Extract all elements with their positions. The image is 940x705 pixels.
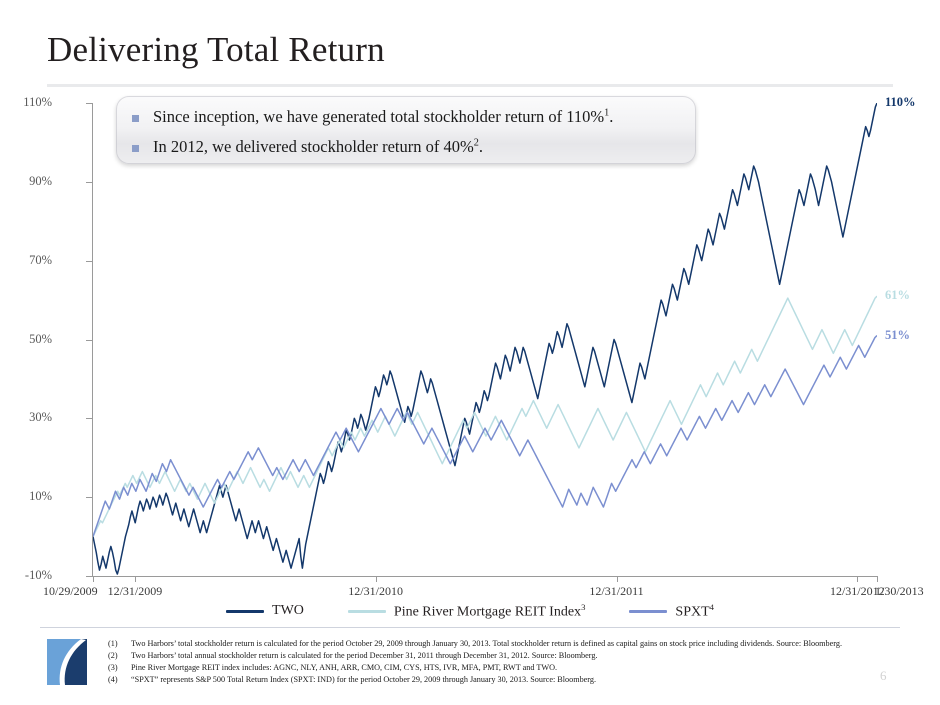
y-axis-tick-label: 30% xyxy=(29,410,52,425)
y-axis-tick-mark xyxy=(86,340,92,341)
end-label-two: 110% xyxy=(885,95,916,110)
footnote-number: (3) xyxy=(108,662,122,674)
legend-item-spxt[interactable]: SPXT4 xyxy=(629,602,714,621)
end-label-spxt: 51% xyxy=(885,328,910,343)
legend-label: Pine River Mortgage REIT Index3 xyxy=(394,602,586,621)
legend-item-pine-river-mortgage-reit-index[interactable]: Pine River Mortgage REIT Index3 xyxy=(348,602,586,621)
x-axis-tick-label: 12/31/2009 xyxy=(108,584,163,599)
footnote-row: (3)Pine River Mortgage REIT index includ… xyxy=(108,662,883,674)
company-logo xyxy=(45,637,91,689)
square-bullet-icon xyxy=(132,115,139,122)
title-divider xyxy=(47,84,893,87)
footnote-marker: 4 xyxy=(710,602,714,612)
footnote-number: (2) xyxy=(108,650,122,662)
x-axis-tick-label: 12/31/2010 xyxy=(348,584,403,599)
bullet-text-2: In 2012, we delivered stockholder return… xyxy=(153,137,483,158)
y-axis-tick-mark xyxy=(86,103,92,104)
page-number: 6 xyxy=(880,668,887,684)
footnote-row: (4)“SPXT” represents S&P 500 Total Retur… xyxy=(108,674,883,686)
footnote-text: Pine River Mortgage REIT index includes:… xyxy=(131,662,883,674)
y-axis-tick-label: 110% xyxy=(23,95,52,110)
footnote-text: Two Harbors’ total stockholder return is… xyxy=(131,638,883,650)
footnote-text: Two Harbors’ total annual stockholder re… xyxy=(131,650,883,662)
y-axis-tick-mark xyxy=(86,182,92,183)
list-item: Since inception, we have generated total… xyxy=(116,107,696,128)
footnote-row: (2)Two Harbors’ total annual stockholder… xyxy=(108,650,883,662)
bullet-text-1: Since inception, we have generated total… xyxy=(153,107,613,128)
chart-line-two xyxy=(93,103,877,574)
highlights-callout: Since inception, we have generated total… xyxy=(116,96,696,164)
x-axis-tick-mark xyxy=(857,576,858,582)
legend-label: TWO xyxy=(272,603,304,619)
y-axis-tick-label: 50% xyxy=(29,332,52,347)
x-axis-tick-mark xyxy=(877,576,878,582)
total-return-chart: 110%90%70%50%30%10%-10% 10/29/200912/31/… xyxy=(0,90,940,595)
chart-line-spxt xyxy=(93,336,877,537)
end-label-pine-river-mortgage-reit-index: 61% xyxy=(885,288,910,303)
y-axis-tick-mark xyxy=(86,261,92,262)
y-axis-tick-mark xyxy=(86,418,92,419)
page-title: Delivering Total Return xyxy=(47,31,385,70)
y-axis-tick-mark xyxy=(86,497,92,498)
x-axis-line xyxy=(92,576,877,577)
highlights-list: Since inception, we have generated total… xyxy=(116,96,696,157)
y-axis-tick-label: -10% xyxy=(25,568,52,583)
chart-legend: TWOPine River Mortgage REIT Index3SPXT4 xyxy=(0,600,940,622)
footnote-text: “SPXT” represents S&P 500 Total Return I… xyxy=(131,674,883,686)
x-axis-tick-label: 1/30/2013 xyxy=(875,584,924,599)
legend-label: SPXT4 xyxy=(675,602,714,621)
x-axis-tick-mark xyxy=(93,576,94,582)
footnotes-block: (1)Two Harbors’ total stockholder return… xyxy=(108,638,883,687)
x-axis-tick-mark xyxy=(376,576,377,582)
y-axis-tick-label: 10% xyxy=(29,489,52,504)
x-axis-tick-label: 12/31/2011 xyxy=(589,584,643,599)
x-axis-tick-label: 10/29/2009 xyxy=(43,584,98,599)
legend-swatch xyxy=(226,610,264,613)
list-item: In 2012, we delivered stockholder return… xyxy=(116,137,696,158)
legend-swatch xyxy=(629,610,667,613)
y-axis-tick-label: 90% xyxy=(29,174,52,189)
footnote-number: (1) xyxy=(108,638,122,650)
footnote-marker: 3 xyxy=(581,602,585,612)
legend-item-two[interactable]: TWO xyxy=(226,603,304,619)
x-axis-tick-mark xyxy=(135,576,136,582)
chart-line-pine-river-mortgage-reit-index xyxy=(93,296,877,536)
square-bullet-icon xyxy=(132,145,139,152)
footnote-row: (1)Two Harbors’ total stockholder return… xyxy=(108,638,883,650)
x-axis-tick-mark xyxy=(617,576,618,582)
legend-swatch xyxy=(348,610,386,613)
y-axis-tick-label: 70% xyxy=(29,253,52,268)
footer-divider xyxy=(40,627,900,628)
y-axis-tick-mark xyxy=(86,576,92,577)
footnote-number: (4) xyxy=(108,674,122,686)
slide-root: Delivering Total Return 110%90%70%50%30%… xyxy=(0,0,940,705)
chart-plot-lines xyxy=(93,103,877,576)
